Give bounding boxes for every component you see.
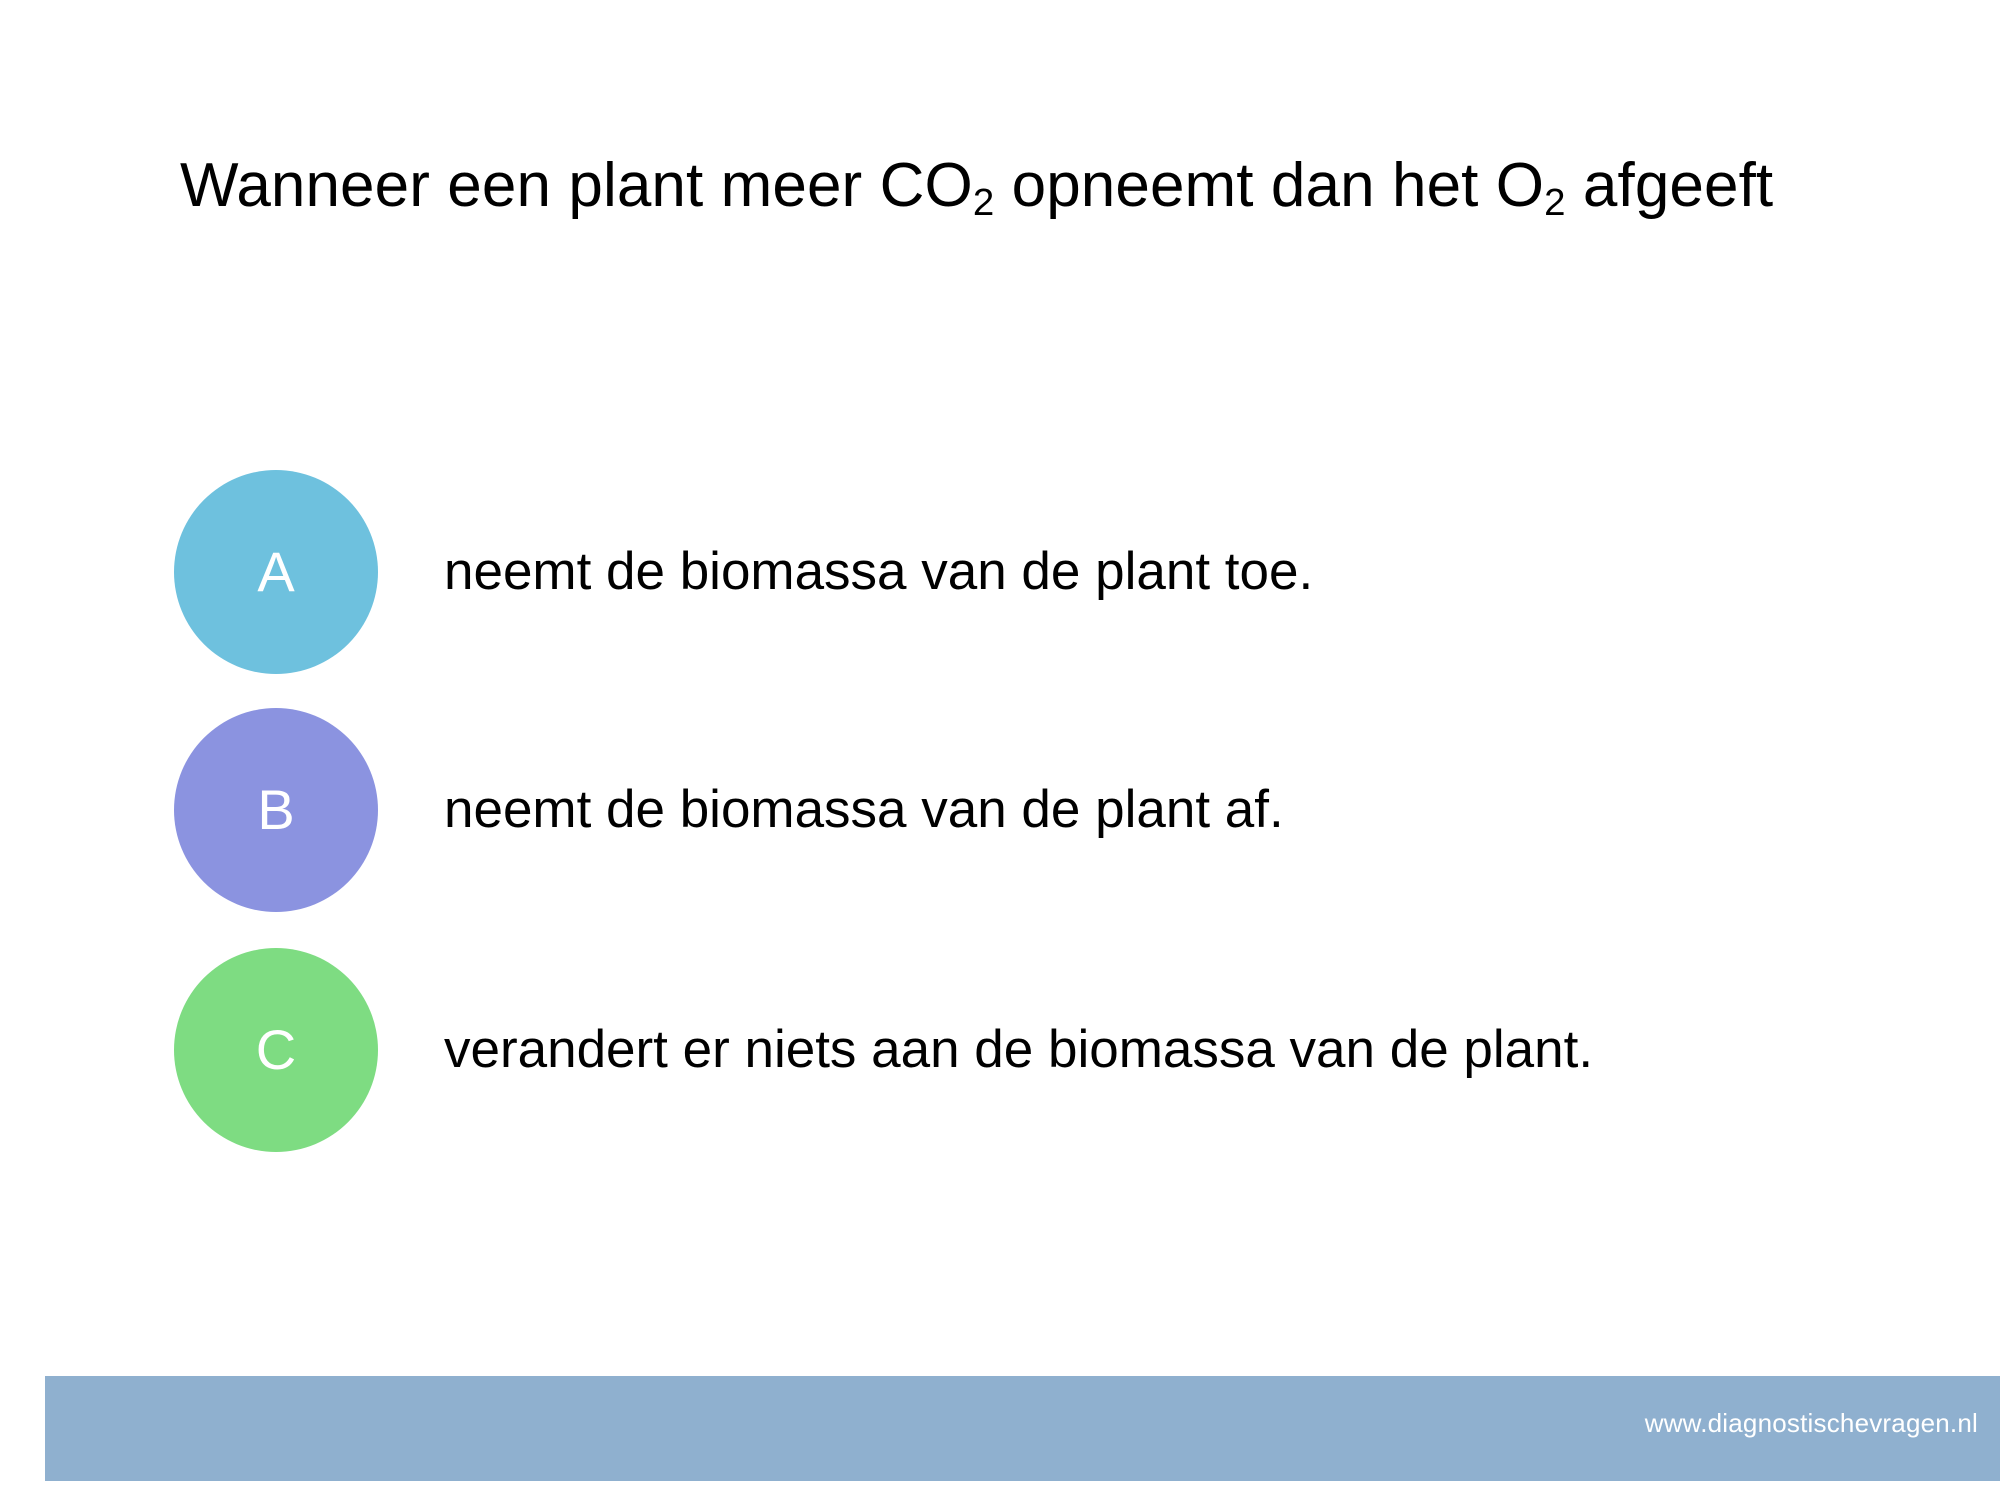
slide-canvas: Wanneer een plant meer CO2 opneemt dan h…: [0, 0, 2000, 1500]
page-title: Wanneer een plant meer CO2 opneemt dan h…: [180, 138, 1880, 234]
answer-text-a: neemt de biomassa van de plant toe.: [444, 523, 1724, 621]
answer-bullet-c[interactable]: C: [174, 948, 378, 1152]
title-part-1: Wanneer een plant meer CO: [180, 151, 973, 220]
answer-option-a[interactable]: A neemt de biomassa van de plant toe.: [0, 470, 2000, 674]
answer-option-b[interactable]: B neemt de biomassa van de plant af.: [0, 708, 2000, 912]
footer-website-url[interactable]: www.diagnostischevragen.nl: [1645, 1408, 1978, 1438]
answer-bullet-b[interactable]: B: [174, 708, 378, 912]
answer-text-b: neemt de biomassa van de plant af.: [444, 761, 1724, 859]
footer-band: www.diagnostischevragen.nl: [45, 1376, 2000, 1481]
answer-text-c: verandert er niets aan de biomassa van d…: [444, 1001, 1724, 1099]
title-part-3: afgeeft: [1566, 151, 1774, 220]
answer-bullet-a[interactable]: A: [174, 470, 378, 674]
answer-letter-b: B: [257, 782, 294, 838]
answer-letter-a: A: [257, 544, 294, 600]
answer-option-c[interactable]: C verandert er niets aan de biomassa van…: [0, 948, 2000, 1152]
title-subscript-co2: 2: [973, 181, 994, 224]
answer-options-list: A neemt de biomassa van de plant toe. B …: [0, 470, 2000, 1152]
answer-letter-c: C: [256, 1022, 296, 1078]
title-part-2: opneemt dan het O: [994, 151, 1544, 220]
title-subscript-o2: 2: [1544, 181, 1565, 224]
